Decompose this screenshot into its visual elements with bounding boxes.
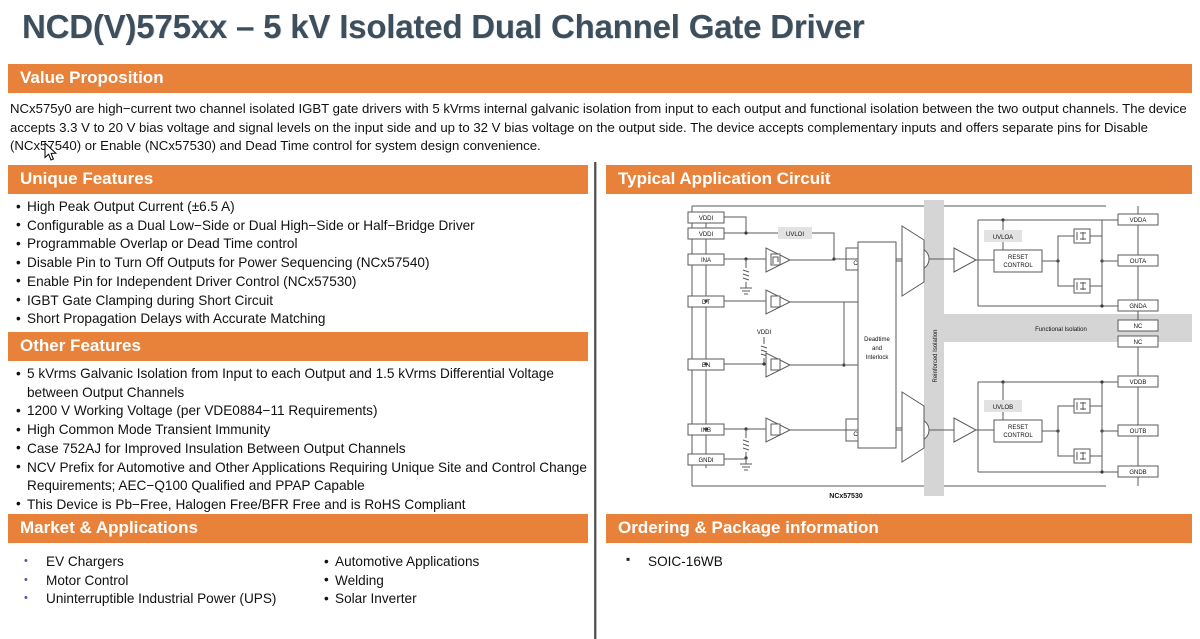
list-item: Enable Pin for Independent Driver Contro… — [16, 273, 588, 292]
pin-label: OUTA — [1130, 259, 1146, 265]
value-proposition-heading: Value Proposition — [8, 64, 1192, 93]
functional-isolation-label: Functional Isolation — [1035, 327, 1087, 333]
list-item: High Peak Output Current (±6.5 A) — [16, 198, 588, 217]
section-unique-features: Unique Features High Peak Output Current… — [8, 165, 588, 348]
output-buffer-b — [954, 418, 976, 442]
section-typical-application-circuit: Typical Application Circuit — [606, 165, 1192, 194]
list-item: IGBT Gate Clamping during Short Circuit — [16, 292, 588, 311]
list-item: SOIC-16WB — [626, 554, 1192, 569]
list-item: Automotive Applications — [324, 553, 574, 572]
list-item: Solar Inverter — [324, 590, 574, 609]
list-item: Case 752AJ for Improved Insulation Betwe… — [16, 440, 588, 459]
vddi-pullup-label: VDDI — [757, 330, 772, 336]
svg-text:RESET: RESET — [1008, 255, 1028, 261]
output-buffer-a — [954, 248, 976, 272]
list-item: Motor Control — [24, 572, 324, 591]
pin-label: OUTB — [1130, 429, 1147, 435]
list-item: Short Propagation Delays with Accurate M… — [16, 310, 588, 329]
uvlob-label: UVLOB — [993, 405, 1013, 411]
applications-column-right: Automotive Applications Welding Solar In… — [324, 553, 574, 609]
pin-label: INA — [701, 258, 711, 264]
ordering-package-list: SOIC-16WB — [606, 543, 1192, 569]
column-divider — [594, 162, 597, 639]
pin-label: NC — [1134, 324, 1143, 330]
svg-text:Interlock: Interlock — [866, 355, 890, 361]
list-item: High Common Mode Transient Immunity — [16, 421, 588, 440]
application-circuit-diagram: .wire { stroke:#5a5a5a; stroke-width:1; … — [606, 196, 1192, 508]
other-features-list: 5 kVrms Galvanic Isolation from Input to… — [8, 361, 588, 515]
market-applications-heading: Market & Applications — [8, 514, 588, 543]
isolation-transmitter-a — [902, 226, 924, 296]
svg-text:and: and — [872, 346, 882, 352]
svg-text:CONTROL: CONTROL — [1003, 263, 1033, 269]
page-title: NCD(V)575xx – 5 kV Isolated Dual Channel… — [22, 8, 864, 46]
value-proposition-body: NCx575y0 are high−current two channel is… — [10, 100, 1188, 156]
unique-features-heading: Unique Features — [8, 165, 588, 194]
section-value-proposition: Value Proposition — [8, 64, 1192, 93]
list-item: 5 kVrms Galvanic Isolation from Input to… — [16, 365, 588, 402]
unique-features-list: High Peak Output Current (±6.5 A) Config… — [8, 194, 588, 348]
pin-label: VDDA — [1130, 218, 1147, 224]
isolation-transmitter-b — [902, 392, 924, 462]
list-item: NCV Prefix for Automotive and Other Appl… — [16, 459, 588, 496]
product-brief-page: NCD(V)575xx – 5 kV Isolated Dual Channel… — [0, 0, 1200, 639]
ordering-package-heading: Ordering & Package information — [606, 514, 1192, 543]
part-number-label: NCx57530 — [829, 493, 863, 500]
pin-label: VDDI — [699, 216, 714, 222]
typical-application-circuit-heading: Typical Application Circuit — [606, 165, 1192, 194]
pin-label: VDDI — [699, 232, 714, 238]
applications-columns: EV Chargers Motor Control Uninterruptibl… — [8, 543, 588, 609]
svg-text:RESET: RESET — [1008, 425, 1028, 431]
list-item: Welding — [324, 572, 574, 591]
list-item: Configurable as a Dual Low−Side or Dual … — [16, 217, 588, 236]
list-item: 1200 V Working Voltage (per VDE0884−11 R… — [16, 402, 588, 421]
svg-text:CONTROL: CONTROL — [1003, 433, 1033, 439]
list-item: Uninterruptible Industrial Power (UPS) — [24, 590, 324, 609]
mosfet-low-b — [1074, 449, 1090, 463]
list-item: EV Chargers — [24, 553, 324, 572]
other-features-heading: Other Features — [8, 332, 588, 361]
uvloa-label: UVLOA — [993, 235, 1013, 241]
pin-label: VDDB — [1130, 380, 1147, 386]
applications-column-left: EV Chargers Motor Control Uninterruptibl… — [8, 553, 324, 609]
list-item: This Device is Pb−Free, Halogen Free/BFR… — [16, 496, 588, 515]
pin-label: GNDA — [1129, 304, 1146, 310]
mosfet-high-a — [1074, 229, 1090, 243]
section-ordering-package: Ordering & Package information SOIC-16WB — [606, 514, 1192, 569]
svg-text:Deadtime: Deadtime — [864, 337, 890, 343]
section-other-features: Other Features 5 kVrms Galvanic Isolatio… — [8, 332, 588, 515]
pin-label: GNDB — [1129, 470, 1146, 476]
reinforced-isolation-label: Reinforced Isolation — [933, 329, 939, 382]
pin-label: NC — [1134, 340, 1143, 346]
section-market-applications: Market & Applications EV Chargers Motor … — [8, 514, 588, 609]
list-item: Programmable Overlap or Dead Time contro… — [16, 235, 588, 254]
uvloi-label: UVLOI — [786, 232, 804, 238]
mosfet-low-a — [1074, 279, 1090, 293]
mosfet-high-b — [1074, 399, 1090, 413]
pin-label: GNDI — [699, 458, 714, 464]
list-item: Disable Pin to Turn Off Outputs for Powe… — [16, 254, 588, 273]
